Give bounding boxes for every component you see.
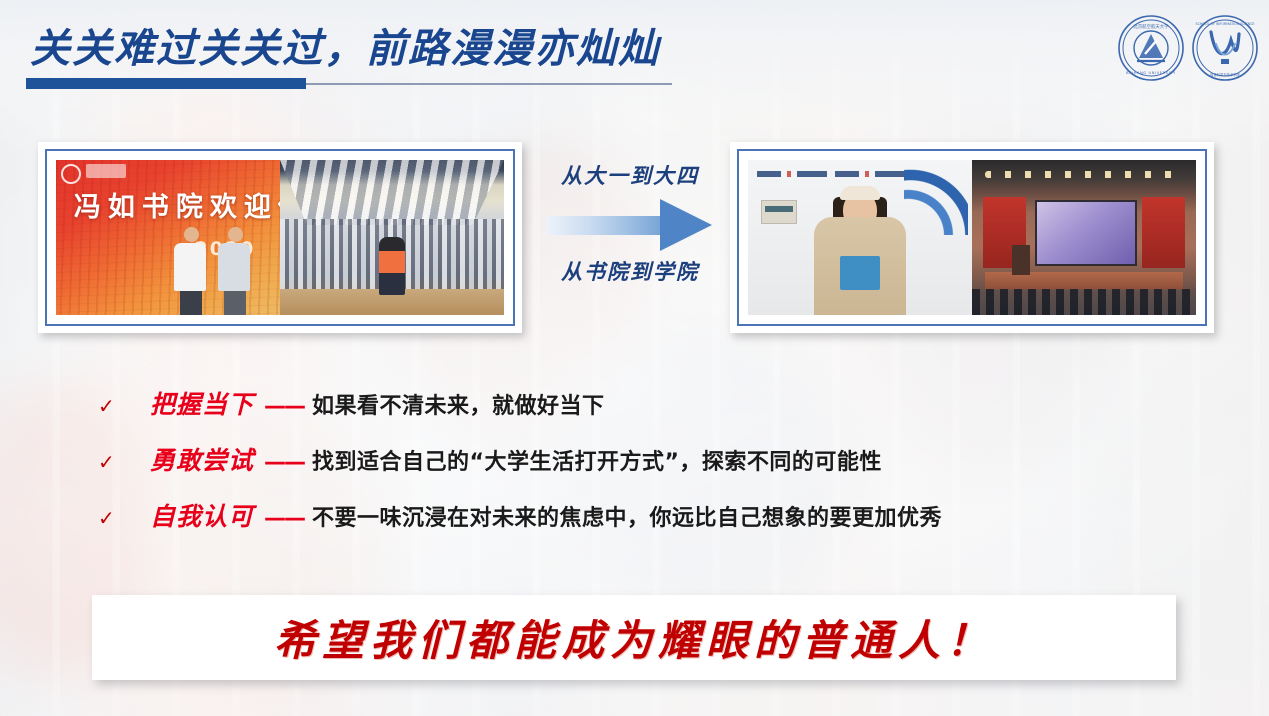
photo-student-book [840,256,880,290]
arrow-graphic [540,196,720,254]
beihang-university-logo: 北京航空航天大学 BEIHANG UNIVERSITY [1117,14,1185,82]
photo-student-hat [840,186,880,200]
photo-backdrop-caption: 冯如书院欢迎你 [74,185,280,224]
photo-lecture-hall-stage [972,160,1196,315]
closing-banner: 希望我们都能成为耀眼的普通人！ [92,595,1176,680]
bullet-keyword: 自我认可 [150,497,254,533]
check-icon: ✓ [98,452,150,472]
page-title: 关关难过关关过，前路漫漫亦灿灿 [30,16,660,74]
transition-arrow-block: 从大一到大四 从书院到学院 [540,160,720,286]
photo-person-right [218,227,252,315]
photo-stage-curtain-right [1142,197,1185,268]
slide-canvas: 关关难过关关过，前路漫漫亦灿灿 北京航空航天大学 BEIHANG UNIVERS… [0,0,1269,716]
arrow-shaft [546,216,668,235]
bullet-dash: —— [264,506,304,531]
arrow-head-icon [660,199,712,251]
photo-exhibit-banner [757,171,923,177]
bullet-text: 找到适合自己的“大学生活打开方式”，探索不同的可能性 [312,444,882,476]
photo-stage-projection-screen [1035,200,1138,266]
list-item: ✓ 把握当下 —— 如果看不清未来，就做好当下 [98,385,1198,441]
photo-school-emblem-icon [904,169,968,235]
photo-person-left [174,227,208,315]
svg-text:BEIHANG UNIVERSITY: BEIHANG UNIVERSITY [1126,71,1176,75]
photo-student-portrait [748,160,972,315]
check-icon: ✓ [98,508,150,528]
photo-stage-audience [972,289,1196,315]
senior-photo-frame [730,142,1214,333]
title-rule-thick [26,78,306,89]
list-item: ✓ 勇敢尝试 —— 找到适合自己的“大学生活打开方式”，探索不同的可能性 [98,441,1198,497]
check-icon: ✓ [98,396,150,416]
bullet-keyword: 把握当下 [150,385,254,421]
photo-backdrop-wordmark [86,164,126,178]
school-of-information-logo: SCHOOL OF INFORMATION SCIENCE 信息科学与技术学院 [1191,14,1259,82]
photo-fengru-college-welcome: 冯如书院欢迎你 2020 [56,160,280,315]
takeaway-list: ✓ 把握当下 —— 如果看不清未来，就做好当下 ✓ 勇敢尝试 —— 找到适合自己… [98,385,1198,553]
freshman-photo-frame: 冯如书院欢迎你 2020 [38,142,522,333]
freshman-photo-inner: 冯如书院欢迎你 2020 [45,149,515,326]
bullet-text: 如果看不清未来，就做好当下 [312,388,605,420]
list-item: ✓ 自我认可 —— 不要一味沉浸在对未来的焦虑中，你远比自己想象的要更加优秀 [98,497,1198,553]
logo-group: 北京航空航天大学 BEIHANG UNIVERSITY SCHOOL OF IN… [1117,14,1259,82]
photo-hall-speaker [379,237,405,295]
svg-text:SCHOOL OF INFORMATION SCIENCE: SCHOOL OF INFORMATION SCIENCE [1196,22,1255,26]
bullet-text: 不要一味沉浸在对未来的焦虑中，你远比自己想象的要更加优秀 [312,500,942,532]
photo-stage-podium [1012,245,1030,275]
photo-backdrop-logo-icon [61,164,81,184]
arrow-label-bottom: 从书院到学院 [540,256,720,286]
senior-photo-inner [737,149,1207,326]
svg-text:北京航空航天大学: 北京航空航天大学 [1133,23,1169,30]
photo-hall-ceiling [280,160,504,225]
svg-text:信息科学与技术学院: 信息科学与技术学院 [1210,72,1240,77]
bullet-dash: —— [264,394,304,419]
closing-banner-text: 希望我们都能成为耀眼的普通人！ [274,607,994,668]
bullet-keyword: 勇敢尝试 [150,441,254,477]
bullet-dash: —— [264,450,304,475]
photo-wall-panel [761,200,797,224]
photo-stage-ceiling-lights [985,171,1182,178]
arrow-label-top: 从大一到大四 [540,160,720,190]
photo-opening-ceremony-hall [280,160,504,315]
